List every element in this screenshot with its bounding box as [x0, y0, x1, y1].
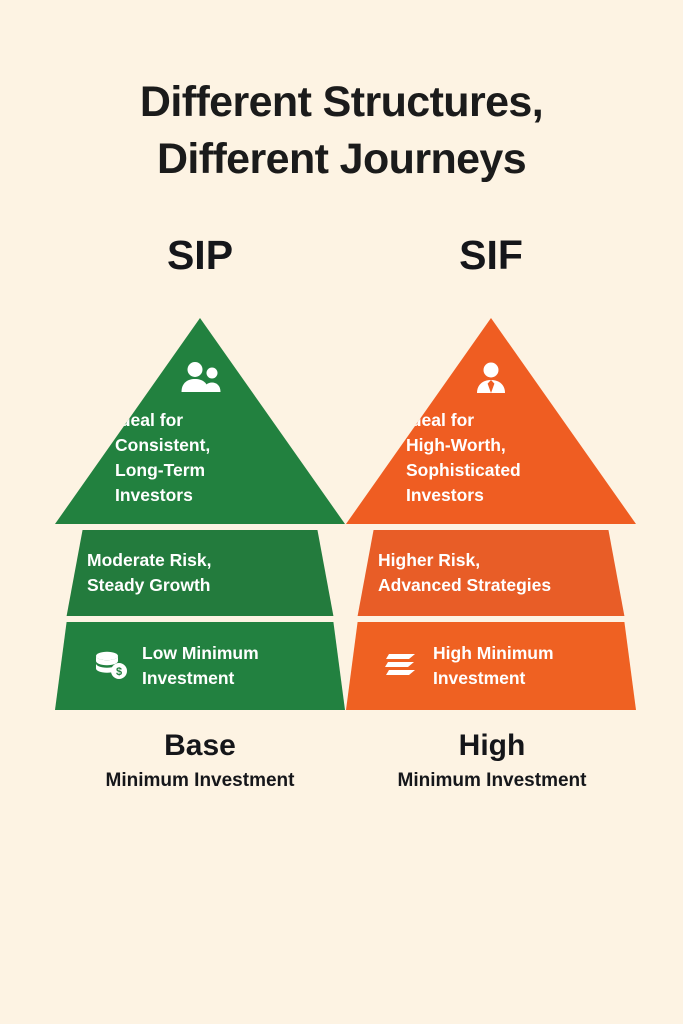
- tier-line: Moderate Risk,: [87, 548, 317, 573]
- people-group-icon: [177, 360, 223, 400]
- tier-line: Consistent,: [115, 433, 285, 458]
- tier-line: Investment: [142, 666, 300, 691]
- footer-sif: High Minimum Investment: [342, 728, 642, 792]
- pyramid-sif-tier-top: Ideal for High-Worth, Sophisticated Inve…: [346, 318, 636, 524]
- column-header-sif: SIF: [351, 232, 631, 279]
- tier-line: Ideal for: [406, 408, 576, 433]
- pyramid-sip: Ideal for Consistent, Long-Term Investor…: [55, 318, 345, 714]
- businessperson-icon: [468, 360, 514, 400]
- pyramid-sip-tier-bottom-text: Low Minimum Investment: [142, 641, 300, 691]
- footer-sif-title: High: [342, 728, 642, 765]
- tier-line: Steady Growth: [87, 573, 317, 598]
- pyramid-sip-tier-middle: Moderate Risk, Steady Growth: [55, 530, 345, 616]
- pyramid-sif-tier-top-text: Ideal for High-Worth, Sophisticated Inve…: [406, 408, 576, 507]
- pyramid-sif: Ideal for High-Worth, Sophisticated Inve…: [346, 318, 636, 714]
- title-line-2: Different Journeys: [0, 131, 683, 188]
- footer-sif-subtitle: Minimum Investment: [342, 770, 642, 792]
- pyramid-sif-tier-bottom: High Minimum Investment: [346, 622, 636, 710]
- coin-stack-icon: $: [92, 645, 130, 688]
- pyramid-sif-tier-middle-text: Higher Risk, Advanced Strategies: [374, 548, 608, 598]
- tier-line: Investment: [433, 666, 591, 691]
- column-header-sip: SIP: [60, 232, 340, 279]
- page-title: Different Structures, Different Journeys: [0, 74, 683, 188]
- tier-line: Investors: [406, 483, 576, 508]
- footer-sip: Base Minimum Investment: [50, 728, 350, 792]
- tier-line: Long-Term: [115, 458, 285, 483]
- tier-line: Investors: [115, 483, 285, 508]
- pyramid-sip-tier-top-text: Ideal for Consistent, Long-Term Investor…: [115, 408, 285, 507]
- tier-line: Sophisticated: [406, 458, 576, 483]
- tier-line: Higher Risk,: [378, 548, 608, 573]
- tier-line: Advanced Strategies: [378, 573, 608, 598]
- pyramid-sip-tier-bottom: $ Low Minimum Investment: [55, 622, 345, 710]
- title-line-1: Different Structures,: [0, 74, 683, 131]
- infographic-canvas: Different Structures, Different Journeys…: [0, 0, 683, 1024]
- footer-sip-subtitle: Minimum Investment: [50, 770, 350, 792]
- pyramid-sip-tier-middle-text: Moderate Risk, Steady Growth: [83, 548, 317, 598]
- pyramid-sif-tier-bottom-text: High Minimum Investment: [433, 641, 591, 691]
- cash-notes-icon: [383, 645, 421, 688]
- tier-line: High Minimum: [433, 641, 591, 666]
- svg-text:$: $: [116, 666, 122, 678]
- tier-line: High-Worth,: [406, 433, 576, 458]
- footer-sip-title: Base: [50, 728, 350, 765]
- tier-line: Ideal for: [115, 408, 285, 433]
- tier-line: Low Minimum: [142, 641, 300, 666]
- pyramid-sif-tier-middle: Higher Risk, Advanced Strategies: [346, 530, 636, 616]
- pyramid-sip-tier-top: Ideal for Consistent, Long-Term Investor…: [55, 318, 345, 524]
